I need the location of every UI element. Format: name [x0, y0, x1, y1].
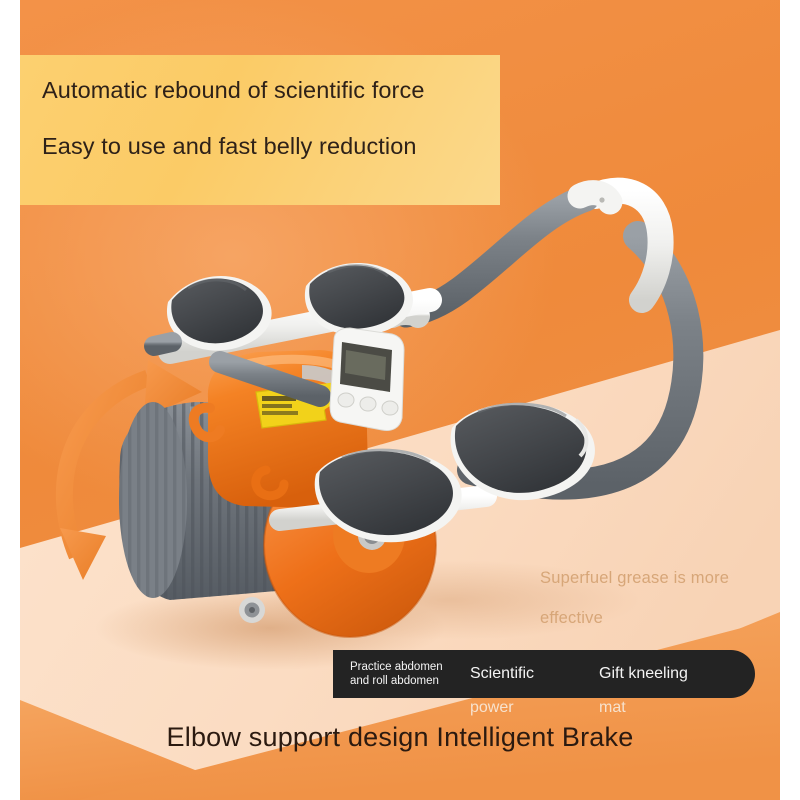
headline-card: Automatic rebound of scientific force Ea… — [20, 55, 500, 205]
feature-item-scientific-label: Scientific — [470, 665, 534, 682]
bottom-headline: Elbow support design Intelligent Brake — [0, 722, 800, 753]
feature-item-scientific: Scientific power — [470, 665, 595, 683]
accent-line-1: Superfuel grease is more — [540, 558, 790, 598]
elbow-pad — [305, 263, 413, 336]
headline-line-1: Automatic rebound of scientific force — [42, 75, 442, 105]
feature-pill-banner: Practice abdomen and roll abdomen Scient… — [333, 650, 755, 698]
counter-button — [382, 401, 398, 415]
digital-counter — [330, 328, 404, 431]
feature-item-gift-label: Gift kneeling — [599, 665, 688, 682]
counter-button — [338, 393, 354, 407]
accent-line-2: effective — [540, 598, 790, 638]
feature-item-practice-label: Practice abdomen and roll abdomen — [350, 661, 443, 687]
feature-item-gift-overflow: mat — [599, 699, 626, 717]
product-poster: Automatic rebound of scientific force Ea… — [0, 0, 800, 800]
feature-item-gift: Gift kneeling mat — [599, 665, 739, 683]
feature-item-practice: Practice abdomen and roll abdomen — [350, 660, 460, 688]
feature-item-scientific-overflow: power — [470, 699, 514, 717]
axle-bolt — [239, 597, 265, 623]
headline-line-2: Easy to use and fast belly reduction — [42, 131, 478, 161]
counter-button — [360, 397, 376, 411]
page-edge-left — [0, 0, 20, 800]
page-edge-right — [780, 0, 800, 800]
accent-text-block: Superfuel grease is more effective — [540, 558, 790, 639]
